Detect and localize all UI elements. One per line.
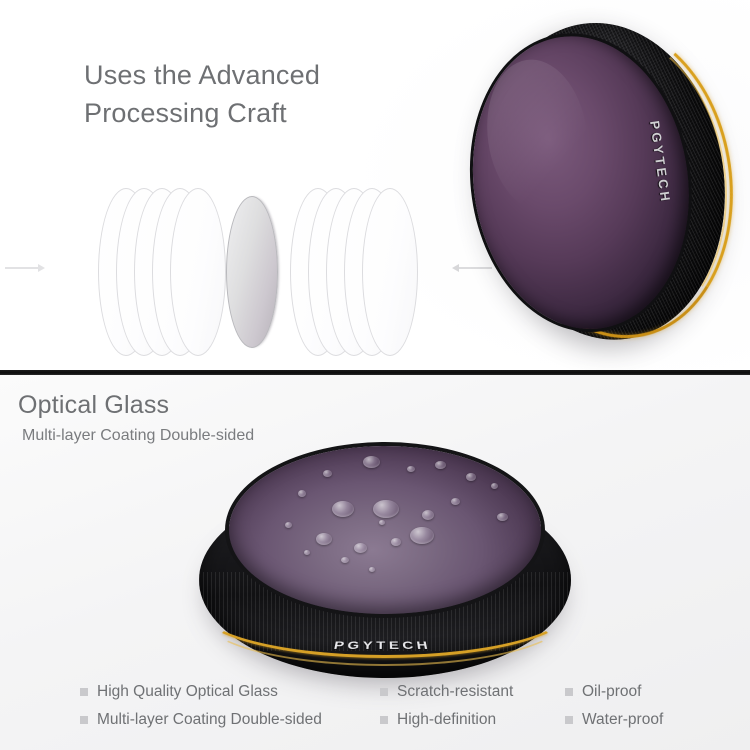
feature-list: High Quality Optical Glass Scratch-resis… [80, 678, 720, 734]
water-droplet [298, 490, 306, 497]
water-droplet [435, 461, 446, 469]
feature-label: Oil-proof [582, 683, 641, 701]
water-droplet [363, 456, 380, 468]
bullet-square-icon [380, 688, 388, 696]
page-title: Uses the Advanced Processing Craft [84, 56, 424, 133]
coating-layer [170, 188, 226, 356]
water-droplets [229, 446, 541, 614]
bullet-square-icon [80, 716, 88, 724]
water-droplet [422, 510, 434, 520]
water-droplet [373, 500, 399, 518]
feature-label: High Quality Optical Glass [97, 683, 278, 701]
optical-glass-core [226, 196, 278, 348]
bullet-square-icon [80, 688, 88, 696]
filter-product-tilted: PGYTECH [451, 0, 750, 372]
list-item: Water-proof [565, 711, 720, 729]
water-droplet [391, 538, 401, 546]
list-item: Scratch-resistant [380, 683, 565, 701]
water-droplet [332, 501, 354, 517]
feature-label: Scratch-resistant [397, 683, 513, 701]
advanced-craft-section: Uses the Advanced Processing Craft [0, 0, 750, 372]
bullet-square-icon [565, 688, 573, 696]
water-droplet [466, 473, 476, 481]
water-droplet [379, 520, 385, 525]
bullet-square-icon [380, 716, 388, 724]
coating-layer-diagram [60, 178, 480, 370]
water-droplet [304, 550, 310, 555]
bullet-square-icon [565, 716, 573, 724]
brand-logo-text: PGYTECH [333, 639, 433, 652]
water-droplet [491, 483, 498, 489]
water-droplet [369, 567, 375, 572]
arrow-left-icon [5, 267, 39, 269]
water-droplet [497, 513, 508, 521]
water-droplet [341, 557, 349, 563]
coating-layer [362, 188, 418, 356]
water-droplet [316, 533, 332, 545]
water-droplet [285, 522, 292, 528]
water-droplet [410, 527, 434, 544]
list-item: Oil-proof [565, 683, 720, 701]
feature-label: Water-proof [582, 711, 663, 729]
optical-glass-section: Optical Glass Multi-layer Coating Double… [0, 375, 750, 750]
list-item: Multi-layer Coating Double-sided [80, 711, 380, 729]
section-title: Optical Glass [18, 391, 169, 420]
product-infographic: Uses the Advanced Processing Craft [0, 0, 750, 750]
feature-label: High-definition [397, 711, 496, 729]
water-droplet [323, 470, 332, 477]
water-droplet [407, 466, 415, 472]
water-droplet [354, 543, 367, 553]
water-droplet [451, 498, 460, 505]
feature-label: Multi-layer Coating Double-sided [97, 711, 322, 729]
filter-glass-surface [229, 446, 541, 614]
list-item: High Quality Optical Glass [80, 683, 380, 701]
list-item: High-definition [380, 711, 565, 729]
